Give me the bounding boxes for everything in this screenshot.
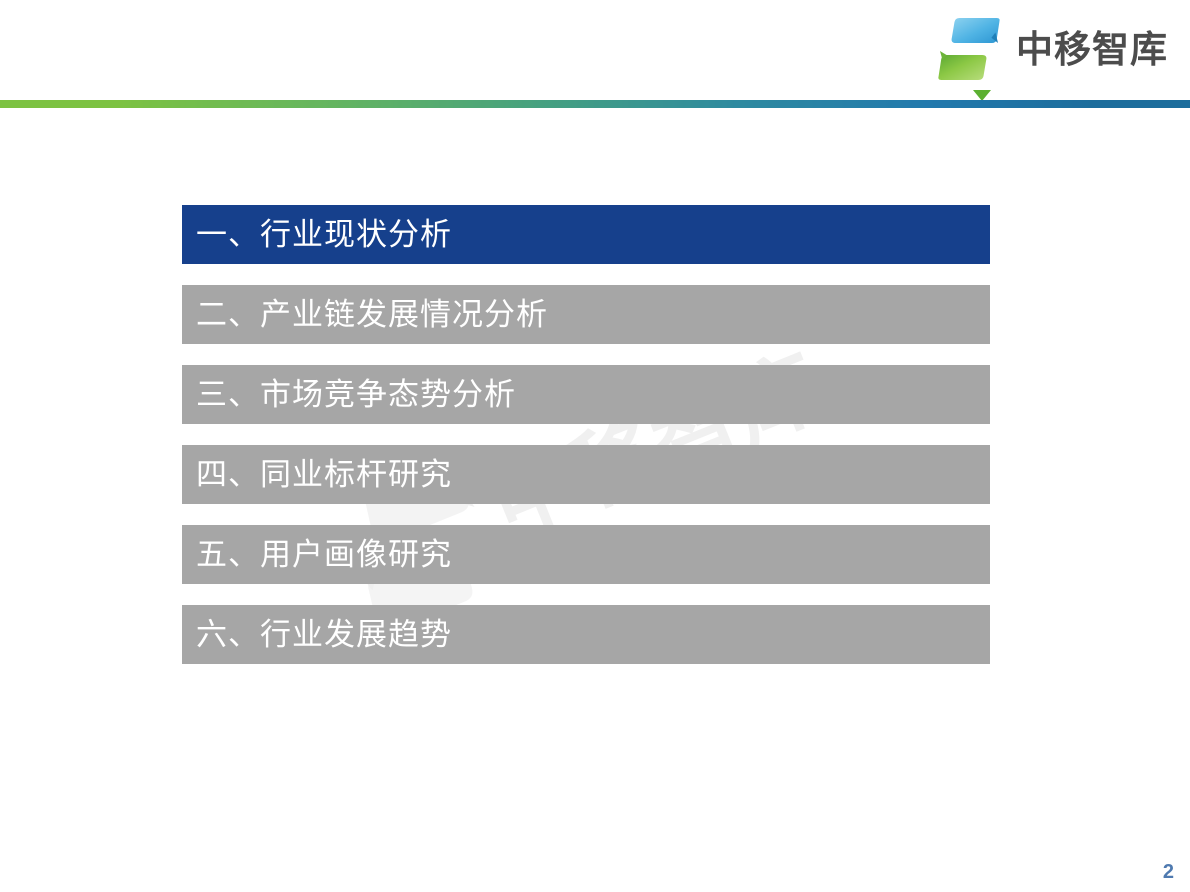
agenda-item-label: 六、行业发展趋势 <box>182 619 452 650</box>
slide-header: 中移智库 <box>0 0 1190 98</box>
agenda-item-4[interactable]: 四、同业标杆研究 <box>182 445 990 504</box>
agenda-list: 一、行业现状分析 二、产业链发展情况分析 三、市场竞争态势分析 四、同业标杆研究… <box>182 205 990 685</box>
header-gradient-rule <box>0 100 1190 108</box>
brand-name: 中移智库 <box>1016 31 1168 68</box>
agenda-item-label: 一、行业现状分析 <box>182 219 452 250</box>
agenda-item-3[interactable]: 三、市场竞争态势分析 <box>182 365 990 424</box>
agenda-item-2[interactable]: 二、产业链发展情况分析 <box>182 285 990 344</box>
slide-canvas: 中移智库 中移智库 一、行业现状分析 二、产业链发展情况分析 三、市场竞争态势分… <box>0 0 1190 892</box>
page-number: 2 <box>1163 862 1174 882</box>
agenda-item-label: 五、用户画像研究 <box>182 539 452 570</box>
agenda-item-label: 四、同业标杆研究 <box>182 459 452 490</box>
brand-lockup: 中移智库 <box>936 14 1168 84</box>
agenda-item-5[interactable]: 五、用户画像研究 <box>182 525 990 584</box>
agenda-item-6[interactable]: 六、行业发展趋势 <box>182 605 990 664</box>
agenda-item-label: 二、产业链发展情况分析 <box>182 299 548 330</box>
agenda-item-1[interactable]: 一、行业现状分析 <box>182 205 990 264</box>
agenda-item-label: 三、市场竞争态势分析 <box>182 379 516 410</box>
zhongyi-zhiku-swoosh-logo-icon <box>936 14 1002 84</box>
